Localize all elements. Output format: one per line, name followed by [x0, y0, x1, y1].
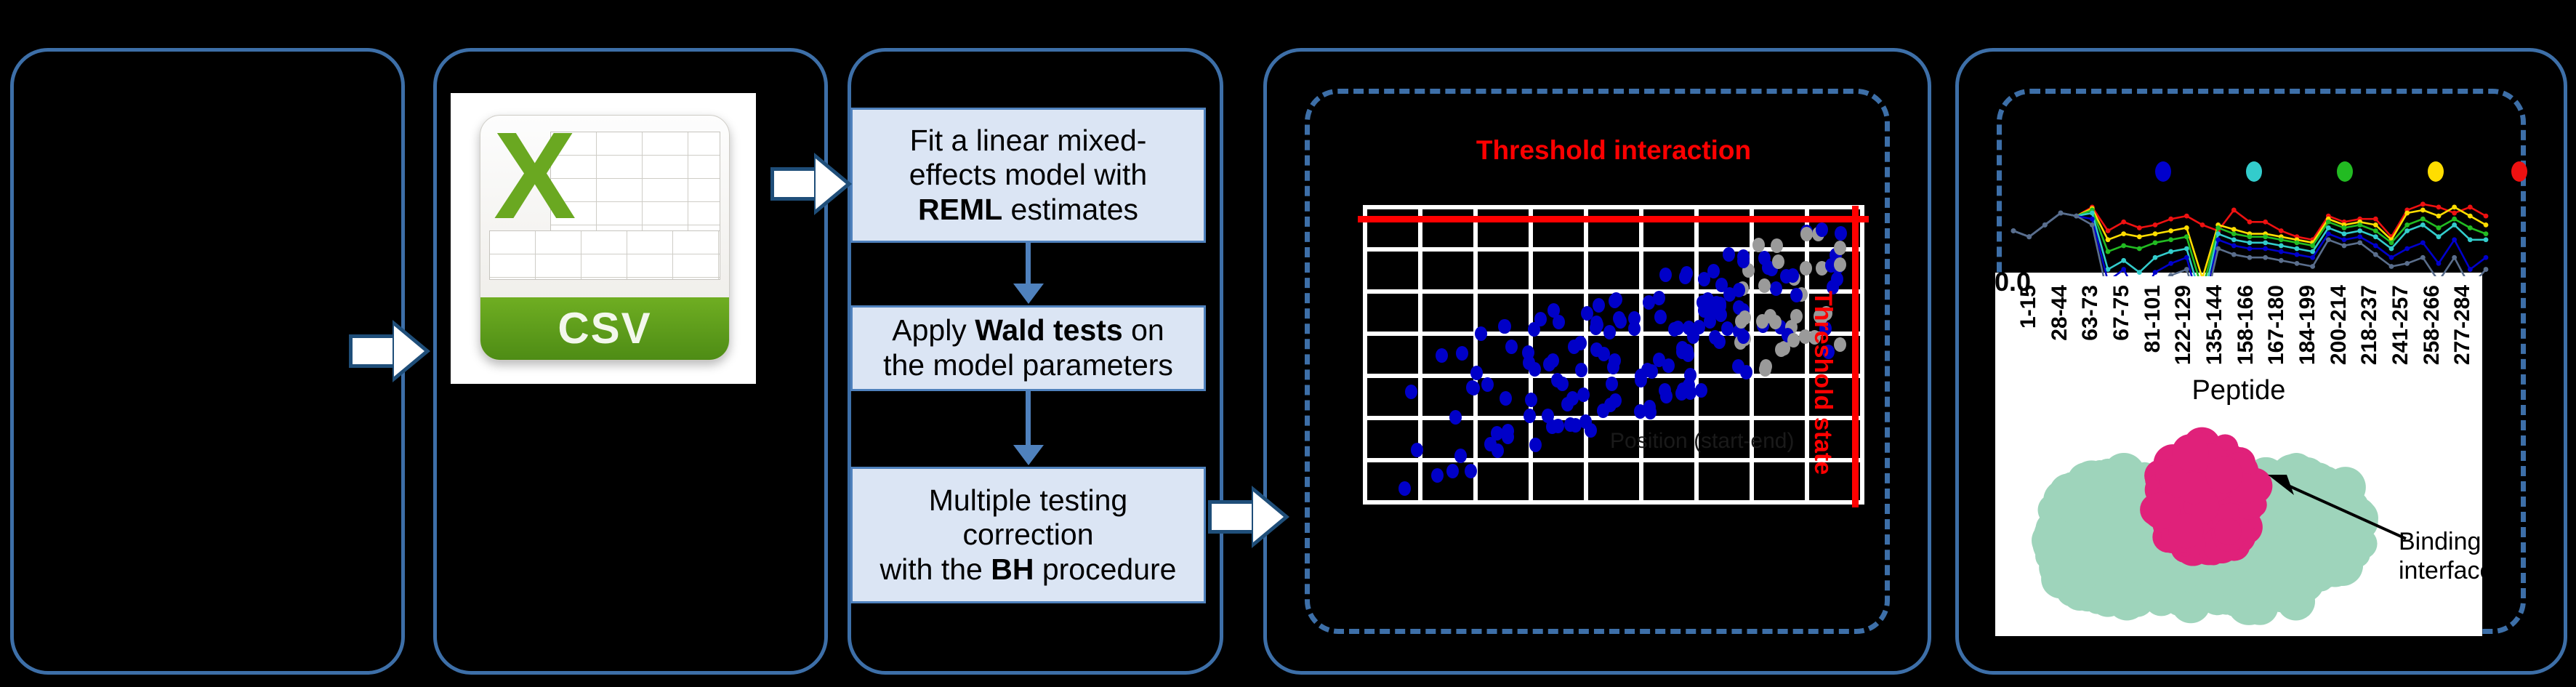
bh-line1: Multiple testing	[929, 483, 1127, 517]
chart-data-point	[2279, 258, 2284, 263]
input-data-panel[interactable]	[10, 48, 405, 675]
chart-data-point	[2295, 261, 2300, 266]
chart-data-point	[2357, 222, 2362, 228]
protein-surface-blob	[2108, 462, 2133, 488]
arrow-right-1-icon	[349, 320, 433, 382]
chart-data-point	[2215, 231, 2221, 236]
scatter-point	[1790, 288, 1803, 302]
chart-data-point	[2326, 220, 2331, 225]
scatter-point	[1835, 226, 1847, 241]
scatter-point	[1556, 377, 1569, 391]
chart-data-point	[2404, 261, 2410, 266]
chart-data-point	[2090, 217, 2095, 222]
chart-data-point	[2357, 240, 2362, 245]
chart-data-point	[2279, 237, 2284, 242]
chart-data-point	[2106, 228, 2111, 233]
protein-surface-blob	[2111, 579, 2140, 608]
csv-label-band: CSV	[480, 297, 729, 360]
chart-data-point	[2452, 204, 2457, 209]
wald-line2: the model parameters	[883, 348, 1173, 382]
scatter-point	[1446, 464, 1459, 478]
chart-data-point	[2153, 240, 2158, 245]
step-bh-box[interactable]: Multiple testing correction with the BH …	[850, 467, 1206, 603]
chart-data-point	[2247, 220, 2253, 225]
chart-data-point	[2247, 240, 2253, 245]
chart-data-point	[2484, 267, 2489, 272]
chart-data-point	[2295, 240, 2300, 245]
chart-data-point	[2420, 255, 2426, 260]
scatter-point-excluded	[1790, 309, 1803, 324]
scatter-point	[1468, 381, 1480, 395]
reml-line1: Fit a linear mixed-	[910, 124, 1147, 157]
scatter-point	[1662, 358, 1675, 373]
bh-keyword: BH	[991, 553, 1034, 586]
chart-data-point	[2153, 270, 2158, 275]
scatter-point	[1524, 409, 1536, 423]
chart-data-point	[2231, 208, 2237, 213]
scatter-point	[1816, 222, 1828, 237]
chart-data-point	[2090, 211, 2095, 216]
chart-legend-dot-4	[2428, 161, 2444, 182]
csv-label: CSV	[480, 297, 729, 360]
chart-data-point	[2106, 237, 2111, 242]
chart-data-point	[2153, 222, 2158, 228]
scatter-point	[1502, 430, 1514, 444]
scatter-point	[1682, 347, 1694, 362]
chart-data-point	[2121, 244, 2126, 249]
chart-data-point	[2468, 214, 2473, 219]
scatter-point-excluded	[1760, 359, 1772, 374]
chart-xtick-label: 258-266	[2420, 285, 2444, 365]
chart-data-point	[2420, 240, 2426, 245]
chart-data-point	[2247, 255, 2253, 260]
chart-data-point	[2263, 246, 2268, 252]
scatter-point	[1603, 325, 1616, 340]
scatter-point	[1609, 393, 1622, 408]
binding-interface-pointer-icon	[2261, 469, 2413, 549]
chart-data-point	[2342, 225, 2347, 230]
scatter-point	[1475, 326, 1487, 341]
chart-data-point	[2404, 211, 2410, 216]
chart-data-point	[2373, 228, 2378, 233]
protein-surface-blob	[2215, 518, 2242, 545]
scatter-point	[1585, 423, 1597, 438]
binding-label-line2: interface	[2399, 556, 2551, 585]
chart-data-point	[2263, 255, 2268, 260]
chart-data-point	[2326, 231, 2331, 236]
chart-data-point	[2484, 237, 2489, 242]
scatter-point	[1780, 269, 1792, 284]
chart-data-point	[2357, 234, 2362, 239]
chart-data-point	[2373, 252, 2378, 257]
chart-data-point	[2357, 228, 2362, 233]
scatter-point	[1529, 438, 1542, 452]
chart-data-point	[2184, 246, 2189, 252]
scatter-point	[1492, 443, 1504, 458]
chart-data-point	[2184, 214, 2189, 219]
chart-legend-dot-3	[2337, 161, 2353, 182]
scatter-point	[1737, 254, 1750, 268]
scatter-point-excluded	[1834, 241, 1846, 255]
chart-data-point	[2468, 204, 2473, 209]
protein-surface-blob	[2172, 434, 2209, 471]
chart-data-point	[2468, 267, 2473, 272]
step-wald-box[interactable]: Apply Wald tests on the model parameters	[850, 305, 1206, 391]
chart-legend-dot-5	[2511, 161, 2527, 182]
chart-data-point	[2310, 264, 2315, 269]
scatter-point	[1470, 366, 1483, 380]
chart-data-point	[2279, 244, 2284, 249]
scatter-point	[1553, 315, 1565, 329]
arrow-right-3-icon	[1208, 486, 1292, 548]
scatter-point	[1505, 340, 1518, 354]
chart-data-point	[2215, 225, 2221, 230]
chart-data-point	[2215, 246, 2221, 252]
chart-data-point	[2342, 231, 2347, 236]
chart-xtick-label: 81-101	[2141, 285, 2165, 353]
threshold-interaction-line	[1358, 216, 1869, 222]
chart-data-point	[2452, 211, 2457, 216]
chart-data-point	[2404, 246, 2410, 252]
chart-data-point	[2137, 225, 2142, 230]
chart-data-point	[2373, 234, 2378, 239]
chart-xaxis-title: Peptide	[1995, 375, 2482, 406]
chart-data-point	[2436, 261, 2442, 266]
chart-data-point	[2231, 252, 2237, 257]
scatter-point	[1770, 281, 1782, 296]
connector-wald-to-bh	[1026, 391, 1031, 446]
scatter-point	[1593, 298, 1605, 313]
chart-xtick-label: 158-166	[2234, 285, 2258, 365]
chart-data-point	[2404, 222, 2410, 228]
chart-data-point	[2137, 270, 2142, 275]
threshold-scatter-plot[interactable]	[1363, 205, 1864, 505]
chart-data-point	[2121, 220, 2126, 225]
chart-data-point	[2436, 214, 2442, 219]
scatter-point	[1597, 403, 1609, 418]
reml-line2: effects model with	[909, 158, 1147, 191]
chart-data-point	[2121, 231, 2126, 236]
chart-data-point	[2168, 237, 2173, 242]
chart-data-point	[2011, 228, 2016, 233]
chart-data-point	[2342, 244, 2347, 249]
wald-keyword: Wald tests	[975, 313, 1123, 347]
scatter-point	[1644, 405, 1657, 419]
scatter-point-excluded	[1800, 261, 1812, 276]
scatter-point	[1737, 329, 1750, 344]
chart-data-point	[2231, 237, 2237, 242]
scatter-point-excluded	[1772, 254, 1784, 269]
chart-data-point	[2468, 237, 2473, 242]
chart-data-point	[2074, 214, 2079, 219]
scatter-point	[1431, 468, 1444, 483]
threshold-state-line	[1852, 206, 1859, 507]
chart-data-point	[2168, 217, 2173, 222]
scatter-point	[1564, 417, 1577, 432]
chart-data-point	[2420, 217, 2426, 222]
chart-xtick-label: 200-214	[2327, 285, 2351, 365]
wald-line1-pre: Apply	[892, 313, 975, 347]
scatter-point-excluded	[1758, 278, 1771, 293]
scatter-point	[1568, 340, 1580, 354]
chart-data-point	[2389, 240, 2394, 245]
chart-data-point	[2326, 237, 2331, 242]
scatter-point	[1500, 391, 1512, 406]
scatter-point-excluded	[1735, 314, 1747, 329]
csv-file-icon[interactable]: X CSV	[451, 93, 756, 384]
protein-surface-blob	[2072, 540, 2108, 576]
reml-keyword: REML	[918, 193, 1002, 226]
chart-xtick-label: 28-44	[2048, 285, 2072, 341]
scatter-point	[1723, 247, 1735, 262]
scatter-point	[1643, 295, 1655, 310]
chart-data-point	[2484, 214, 2489, 219]
chart-legend-dot-1	[2155, 161, 2171, 182]
chart-xtick-label: 241-257	[2388, 285, 2413, 365]
scatter-point	[1566, 391, 1579, 406]
chart-data-point	[2231, 231, 2237, 236]
scatter-point	[1525, 393, 1537, 407]
scatter-point	[1405, 385, 1417, 399]
chart-data-point	[2231, 227, 2237, 232]
chart-data-point	[2137, 246, 2142, 252]
scatter-point	[1465, 464, 1477, 478]
chart-data-point	[2295, 246, 2300, 252]
scatter-point	[1606, 377, 1618, 391]
chart-data-point	[2026, 234, 2032, 239]
scatter-point	[1709, 330, 1721, 345]
wald-line1-post: on	[1123, 313, 1164, 347]
chart-data-point	[2468, 225, 2473, 230]
connector-reml-to-wald	[1026, 243, 1031, 285]
scatter-point	[1398, 481, 1411, 496]
connector-arrowhead-2	[1013, 445, 1044, 465]
scatter-point-excluded	[1800, 227, 1813, 241]
binding-label-line1: Binding	[2399, 527, 2551, 556]
chart-xtick-label: 277-284	[2450, 285, 2475, 365]
chart-data-point	[2452, 222, 2457, 228]
chart-data-point	[2436, 234, 2442, 239]
chart-data-point	[2373, 217, 2378, 222]
chart-data-point	[2215, 237, 2221, 242]
scatter-point	[1411, 443, 1423, 457]
scatter-gridline-h	[1363, 416, 1864, 420]
scatter-gridline-h	[1363, 205, 1864, 209]
scatter-point	[1577, 387, 1590, 402]
excel-x-icon: X	[494, 121, 581, 230]
bh-line3-post: procedure	[1034, 553, 1176, 586]
chart-xtick-label: 135-144	[2202, 285, 2227, 365]
chart-data-point	[2168, 249, 2173, 254]
scatter-gridline-h	[1363, 247, 1864, 252]
scatter-point-excluded	[1775, 342, 1787, 357]
chart-data-point	[2295, 252, 2300, 257]
chart-data-point	[2247, 234, 2253, 239]
chart-data-point	[2058, 211, 2064, 216]
chart-xtick-label: 67-75	[2109, 285, 2134, 341]
scatter-point	[1436, 348, 1448, 363]
threshold-state-label: Threshold state	[1808, 291, 1837, 475]
chart-data-point	[2121, 267, 2126, 272]
protein-surface-blob	[2178, 472, 2210, 504]
protein-surface-blob	[2035, 524, 2058, 547]
scatter-point	[1721, 321, 1734, 336]
chart-data-point	[2389, 246, 2394, 252]
scatter-gridline-h	[1363, 500, 1864, 505]
scatter-point	[1529, 362, 1541, 377]
scatter-point	[1613, 311, 1625, 326]
chart-data-point	[2263, 240, 2268, 245]
chart-data-point	[2247, 246, 2253, 252]
scatter-point-excluded	[1771, 238, 1783, 253]
chart-data-point	[2452, 237, 2457, 242]
scatter-point	[1609, 294, 1621, 308]
scatter-point-excluded	[1787, 333, 1800, 347]
protein-surface-blob	[2089, 460, 2111, 482]
protein-surface-blob	[2263, 586, 2285, 608]
chart-data-point	[2263, 220, 2268, 225]
chart-data-point	[2184, 255, 2189, 260]
chart-data-point	[2452, 217, 2457, 222]
protein-surface-blob	[2316, 553, 2348, 585]
chart-data-point	[2090, 222, 2095, 228]
reml-line3-rest: estimates	[1002, 193, 1138, 226]
chart-data-point	[2184, 225, 2189, 230]
chart-data-point	[2436, 225, 2442, 230]
connector-arrowhead-1	[1013, 284, 1044, 304]
binding-interface-label: Binding interface	[2399, 527, 2551, 585]
chart-data-point	[2042, 222, 2048, 228]
bh-line3-pre: with the	[880, 553, 991, 586]
scatter-point	[1654, 310, 1667, 324]
scatter-title: Threshold interaction	[1367, 135, 1861, 166]
chart-legend-dot-2	[2246, 161, 2262, 182]
scatter-point	[1607, 360, 1619, 374]
chart-xtick-label: 122-129	[2171, 285, 2196, 365]
chart-data-point	[2106, 249, 2111, 254]
chart-data-point	[2153, 255, 2158, 260]
bh-line2: correction	[962, 518, 1093, 551]
scatter-point	[1543, 357, 1555, 371]
chart-data-point	[2279, 228, 2284, 233]
chart-data-point	[2121, 258, 2126, 263]
chart-xtick-label: 218-237	[2357, 285, 2382, 365]
chart-data-point	[2420, 222, 2426, 228]
chart-data-point	[2184, 267, 2189, 272]
arrow-right-2-icon	[770, 153, 855, 215]
scatter-point	[1481, 377, 1494, 392]
chart-data-point	[2153, 231, 2158, 236]
chart-data-point	[2484, 231, 2489, 236]
chart-data-point	[2168, 261, 2173, 266]
scatter-point	[1534, 312, 1547, 326]
chart-data-point	[2310, 255, 2315, 260]
scatter-gridline-h	[1363, 458, 1864, 462]
scatter-point	[1679, 270, 1691, 284]
chart-data-point	[2373, 222, 2378, 228]
scatter-point	[1698, 272, 1710, 286]
chart-xtick-label: 167-180	[2264, 285, 2289, 365]
chart-xtick-label: 184-199	[2295, 285, 2320, 365]
scatter-faint-axis-text: Position (start-end)	[1610, 429, 1794, 454]
scatter-point	[1575, 363, 1587, 377]
chart-data-point	[2420, 201, 2426, 206]
chart-data-point	[2389, 264, 2394, 269]
chart-data-point	[2404, 228, 2410, 233]
chart-xtick-label: 63-73	[2078, 285, 2103, 341]
chart-data-point	[2137, 234, 2142, 239]
chart-data-point	[2168, 228, 2173, 233]
scatter-point	[1456, 346, 1468, 361]
step-reml-box[interactable]: Fit a linear mixed- effects model with R…	[850, 108, 1206, 243]
chart-data-point	[2342, 237, 2347, 242]
chart-data-point	[2231, 244, 2237, 249]
chart-data-point	[2184, 234, 2189, 239]
scatter-point	[1696, 295, 1709, 310]
scatter-point	[1695, 383, 1707, 398]
protein-surface-blob	[2280, 552, 2305, 576]
chart-xtick-labels: 1-1528-4463-7367-7581-101122-129135-1441…	[2012, 285, 2477, 372]
protein-surface-blob	[2205, 457, 2242, 494]
chart-data-point	[2279, 249, 2284, 254]
chart-data-point	[2200, 222, 2205, 228]
chart-data-point	[2420, 208, 2426, 213]
chart-data-point	[2326, 225, 2331, 230]
protein-surface-blob	[2168, 513, 2203, 548]
scatter-point-excluded	[1834, 257, 1846, 272]
scatter-point	[1449, 410, 1462, 425]
chart-data-point	[2452, 255, 2457, 260]
chart-data-point	[2436, 204, 2442, 209]
chart-data-point	[2263, 234, 2268, 239]
chart-data-point	[2389, 255, 2394, 260]
csv-icon-card: X CSV	[480, 115, 730, 361]
chart-data-point	[2373, 244, 2378, 249]
chart-xtick-label: 1-15	[2016, 285, 2041, 329]
chart-data-point	[2484, 222, 2489, 228]
chart-data-point	[2484, 255, 2489, 260]
scatter-point	[1659, 268, 1672, 282]
